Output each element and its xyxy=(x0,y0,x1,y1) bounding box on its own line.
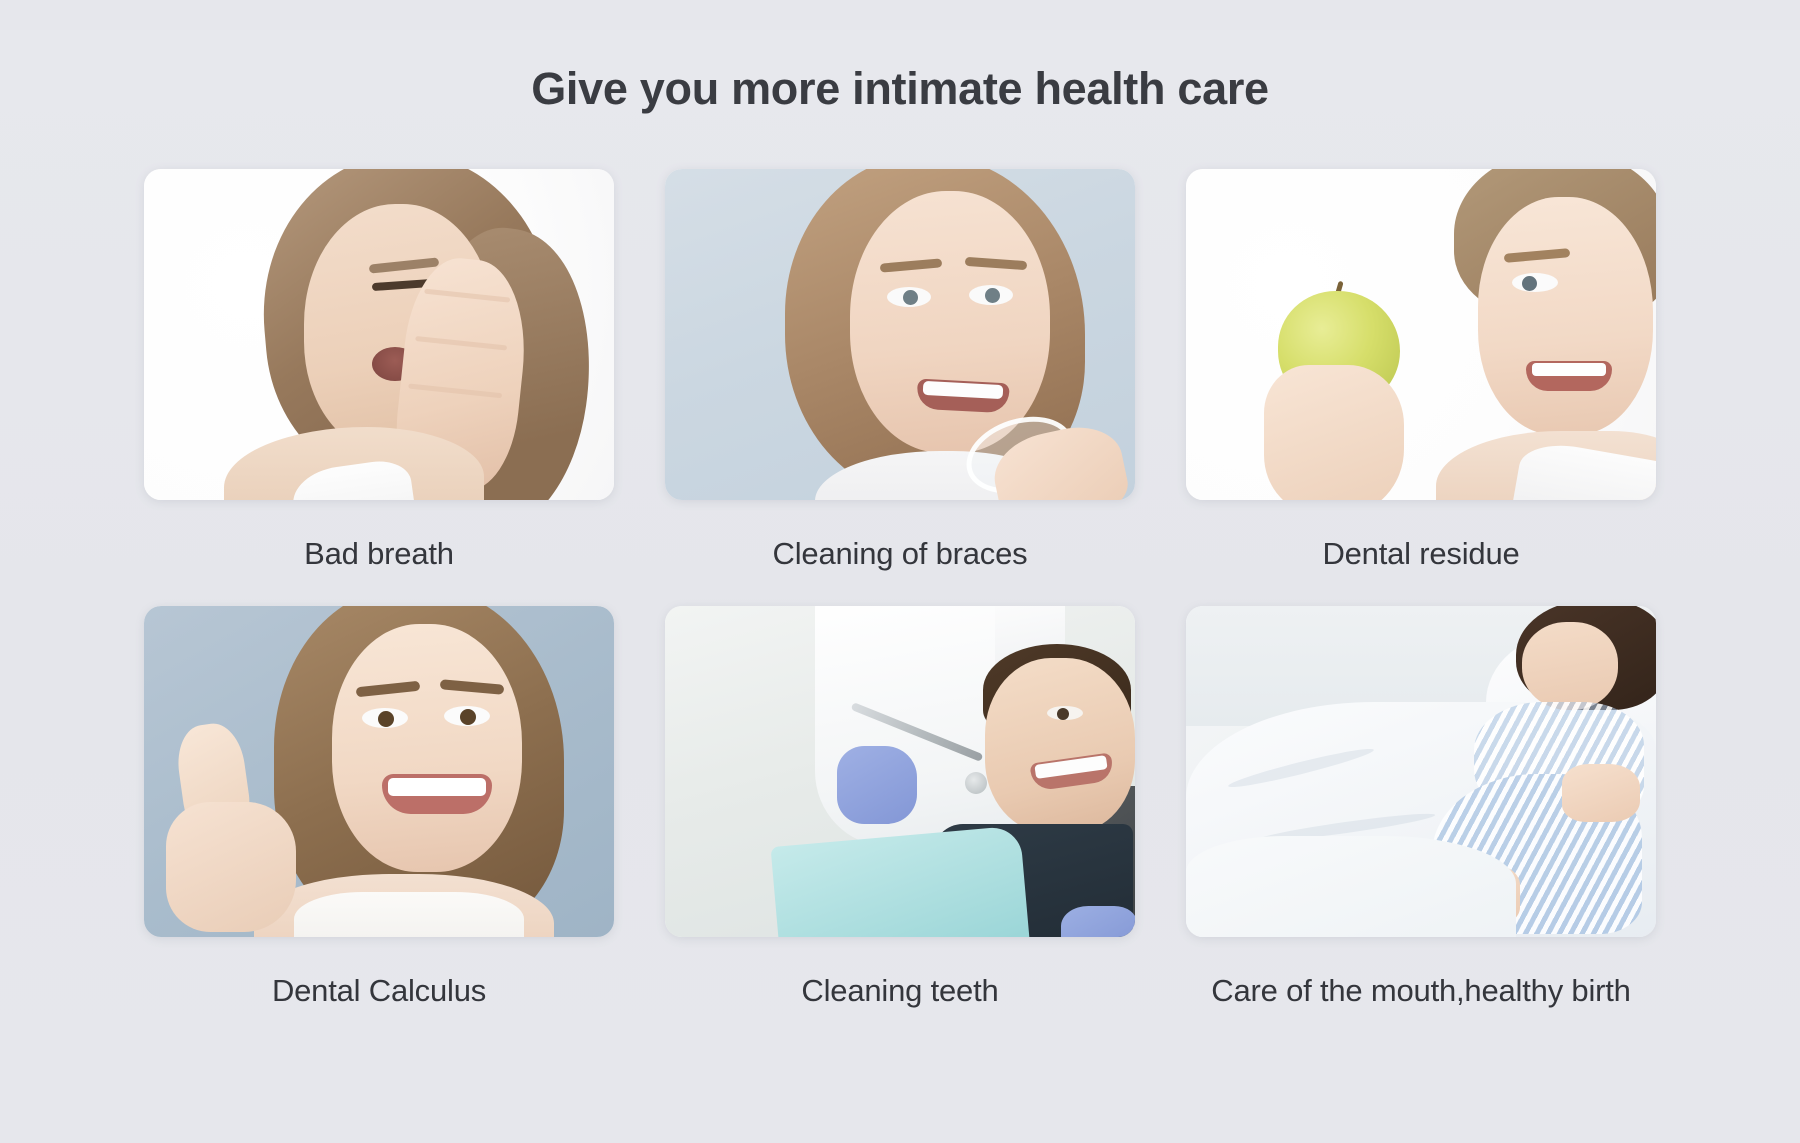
feature-card-care-of-the-mouth[interactable]: Care of the mouth,healthy birth xyxy=(1186,606,1656,1043)
card-caption: Cleaning of braces xyxy=(665,500,1135,606)
mirror-head-shape xyxy=(965,772,987,794)
image-card[interactable] xyxy=(1186,169,1656,500)
card-caption: Care of the mouth,healthy birth xyxy=(1186,937,1656,1043)
feature-card-dental-residue[interactable]: Dental residue xyxy=(1186,169,1656,606)
face-shape xyxy=(1478,197,1653,435)
image-card[interactable] xyxy=(144,606,614,937)
face-shape xyxy=(850,191,1050,453)
feature-card-bad-breath[interactable]: Bad breath xyxy=(144,169,614,606)
photo-dental-calculus xyxy=(144,606,614,937)
fist-shape xyxy=(166,802,296,932)
photo-cleaning-of-braces xyxy=(665,169,1135,500)
card-caption: Dental Calculus xyxy=(144,937,614,1043)
feature-card-cleaning-of-braces[interactable]: Cleaning of braces xyxy=(665,169,1135,606)
teeth-shape xyxy=(1532,363,1606,376)
pupil-shape xyxy=(1057,708,1069,720)
sheet-fold xyxy=(1227,744,1375,792)
image-card[interactable] xyxy=(144,169,614,500)
image-card[interactable] xyxy=(665,606,1135,937)
photo-bad-breath xyxy=(144,169,614,500)
card-caption: Bad breath xyxy=(144,500,614,606)
finger-line xyxy=(424,289,510,303)
image-card[interactable] xyxy=(1186,606,1656,937)
feature-card-cleaning-teeth[interactable]: Cleaning teeth xyxy=(665,606,1135,1043)
finger-line xyxy=(415,336,507,351)
photo-dental-residue xyxy=(1186,169,1656,500)
photo-cleaning-teeth xyxy=(665,606,1135,937)
teeth-shape xyxy=(388,778,486,796)
hand-shape xyxy=(1264,365,1404,500)
bed-sheet-shape xyxy=(1186,836,1516,937)
image-card[interactable] xyxy=(665,169,1135,500)
face-shape xyxy=(985,658,1135,833)
card-caption: Dental residue xyxy=(1186,500,1656,606)
card-caption: Cleaning teeth xyxy=(665,937,1135,1043)
face-shape xyxy=(332,624,522,872)
page-title: Give you more intimate health care xyxy=(0,30,1800,116)
finger-line xyxy=(408,384,502,399)
photo-care-of-the-mouth xyxy=(1186,606,1656,937)
tank-top-shape xyxy=(294,892,524,937)
health-care-feature-page: Give you more intimate health care xyxy=(0,30,1800,1143)
feature-card-dental-calculus[interactable]: Dental Calculus xyxy=(144,606,614,1043)
pupil-shape xyxy=(460,709,476,725)
hand-shape xyxy=(1562,764,1640,822)
blue-glove-shape xyxy=(1061,906,1135,937)
pupil-shape xyxy=(378,711,394,727)
blue-glove-shape xyxy=(837,746,917,824)
feature-card-grid: Bad breath xyxy=(144,146,1656,1042)
face-shape xyxy=(1522,622,1618,710)
